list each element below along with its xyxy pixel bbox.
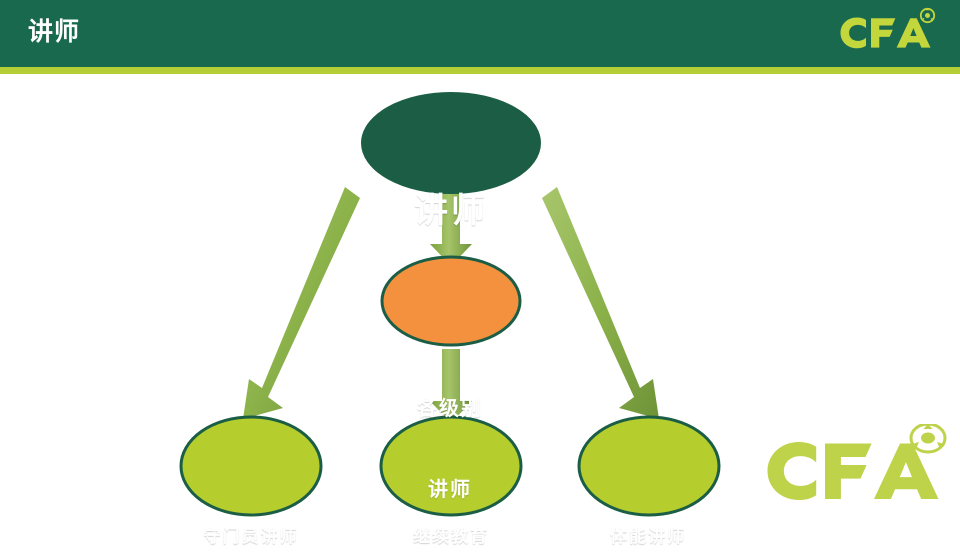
cfa-logo-icon [826, 6, 938, 54]
edge-levels-to-education [430, 349, 472, 423]
node-fitness[interactable] [579, 417, 719, 515]
edge-root-to-fitness [542, 187, 659, 419]
edge-root-to-levels [430, 192, 472, 266]
node-levels[interactable] [382, 257, 520, 345]
header-accent-bar [0, 67, 960, 74]
edge-root-to-goalkeeper [243, 187, 360, 419]
node-education[interactable] [381, 417, 521, 515]
cfa-watermark-logo-icon [752, 424, 948, 514]
node-root[interactable] [362, 93, 540, 193]
soccer-ball-icon [911, 424, 945, 452]
soccer-ball-icon [920, 8, 935, 23]
slide-header: 讲师 [0, 0, 960, 67]
node-goalkeeper[interactable] [181, 417, 321, 515]
page-title: 讲师 [28, 16, 80, 49]
